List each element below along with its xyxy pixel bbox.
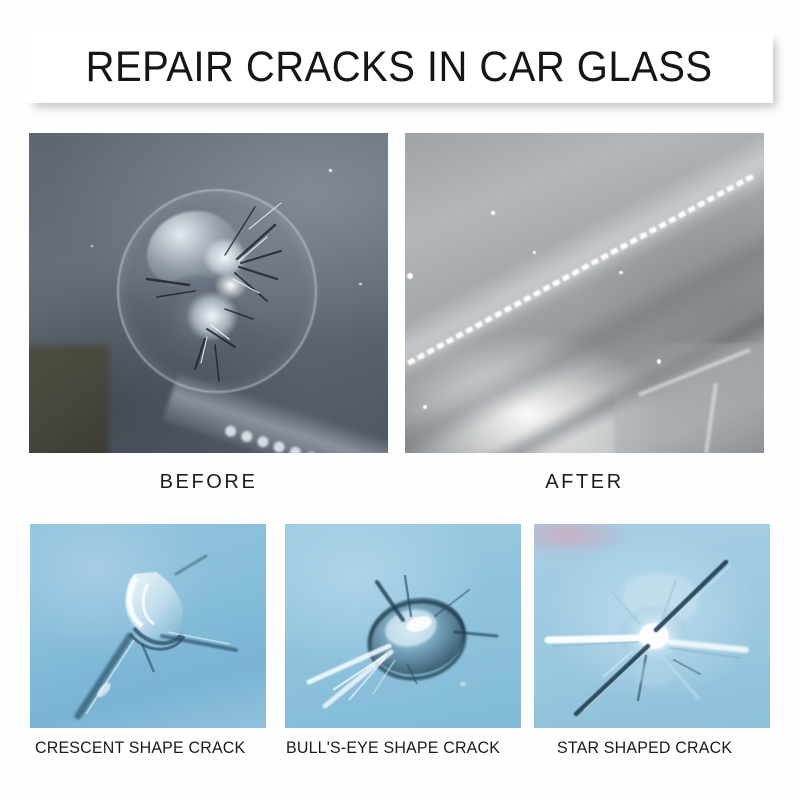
speck (619, 271, 623, 274)
speck (491, 211, 495, 215)
before-label: BEFORE (29, 471, 388, 494)
page-title: REPAIR CRACKS IN CAR GLASS (86, 46, 713, 89)
after-background-panel (614, 343, 764, 453)
speck (407, 273, 413, 279)
before-crack-lines (29, 133, 388, 453)
speck (359, 283, 362, 285)
crescent-crack-caption: CRESCENT SHAPE CRACK (35, 738, 245, 758)
bullseye-crack-graphic (285, 524, 521, 728)
after-label: AFTER (405, 471, 764, 494)
speck (657, 359, 661, 364)
bullseye-crack-photo (285, 524, 521, 728)
crescent-crack-photo (30, 524, 266, 728)
star-crack-graphic (534, 524, 770, 728)
speck (533, 251, 536, 254)
speck (423, 405, 427, 409)
title-banner: REPAIR CRACKS IN CAR GLASS (25, 31, 773, 103)
before-photo (29, 133, 388, 453)
after-photo (405, 133, 764, 453)
crescent-crack-graphic (30, 524, 266, 728)
star-crack-photo (534, 524, 770, 728)
speck (91, 245, 93, 247)
star-crack-caption: STAR SHAPED CRACK (557, 738, 732, 758)
speck (329, 169, 332, 172)
bullseye-crack-caption: BULL'S-EYE SHAPE CRACK (286, 738, 500, 758)
